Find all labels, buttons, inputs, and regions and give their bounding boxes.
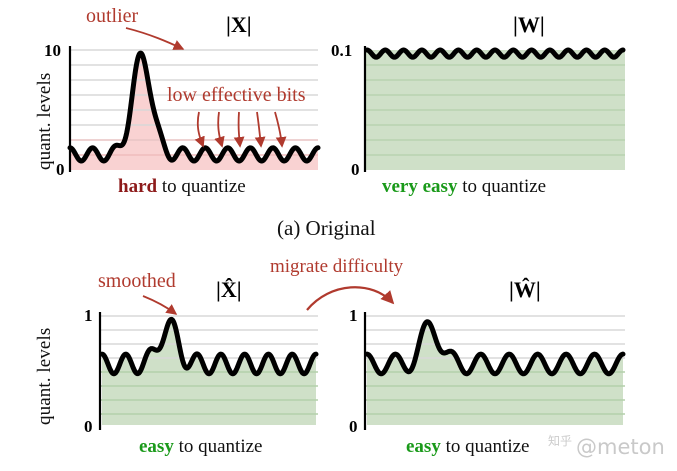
panel-x-smoothed-curve [102, 319, 316, 373]
panel-title-w-original: |W| [513, 12, 545, 38]
caption-strong-x-original: hard [118, 176, 157, 197]
y-axis-label-x-smoothed: quant. levels [34, 328, 56, 425]
ytick-bottom-w-original: 0 [351, 160, 360, 180]
caption-rest-x-original: to quantize [157, 176, 246, 197]
caption-x-smoothed: easy to quantize [139, 436, 262, 458]
y-axis-label-x-original: quant. levels [34, 73, 56, 170]
ytick-bottom-w-smoothed: 0 [349, 417, 358, 437]
panel-x-smoothed [100, 296, 318, 430]
outlier-arrow [126, 28, 183, 49]
annotation-low-effective-bits: low effective bits [167, 84, 305, 107]
caption-w-original: very easy to quantize [382, 176, 546, 198]
caption-strong-w-smoothed: easy [406, 436, 441, 457]
caption-strong-x-smoothed: easy [139, 436, 174, 457]
annotation-smoothed: smoothed [98, 270, 176, 293]
annotation-outlier: outlier [86, 5, 138, 28]
ytick-bottom-x-original: 0 [56, 160, 65, 180]
panel-title-w-smoothed: |Ŵ| [509, 277, 541, 303]
watermark-cn: 知乎 [548, 432, 572, 449]
ytick-bottom-x-smoothed: 0 [84, 417, 93, 437]
caption-rest-w-original: to quantize [457, 176, 546, 197]
ytick-top-x-original: 10 [44, 41, 61, 61]
low-effective-bits-arrows [198, 112, 282, 146]
panel-title-x-smoothed: |X̂| [216, 277, 242, 303]
annotation-migrate-difficulty: migrate difficulty [270, 256, 403, 278]
watermark: @meton [576, 435, 665, 459]
panel-w-original [365, 46, 625, 172]
caption-strong-w-original: very easy [382, 176, 457, 197]
ytick-top-w-smoothed: 1 [349, 306, 358, 326]
ytick-top-x-smoothed: 1 [84, 306, 93, 326]
ytick-top-w-original: 0.1 [331, 41, 352, 61]
panel-x-original-curve [70, 53, 318, 161]
subcaption-original: (a) Original [277, 216, 376, 241]
smoothed-arrow [143, 296, 176, 314]
panel-x-original-fill [70, 53, 318, 170]
panel-title-x-original: |X| [226, 12, 252, 38]
caption-w-smoothed: easy to quantize [406, 436, 529, 458]
caption-x-original: hard to quantize [118, 176, 246, 198]
figure-canvas: quant. levels 10 0 |X| outlier low effec… [0, 0, 677, 471]
caption-rest-w-smoothed: to quantize [441, 436, 530, 457]
caption-rest-x-smoothed: to quantize [174, 436, 263, 457]
